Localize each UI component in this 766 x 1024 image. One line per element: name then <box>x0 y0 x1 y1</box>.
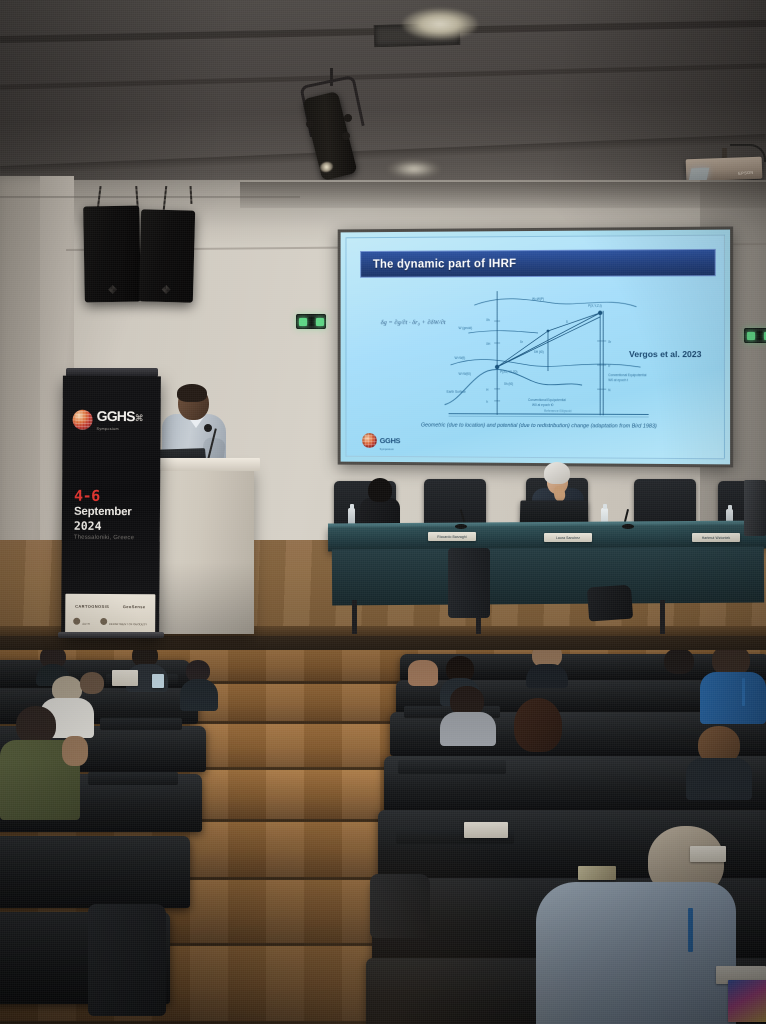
floor-bag <box>587 585 633 622</box>
banner-logo-word: GGHS <box>97 408 135 424</box>
ceiling-shading <box>0 0 766 196</box>
audience-area <box>0 650 766 1024</box>
panelist-head <box>368 478 392 502</box>
svg-text:δ: δ <box>566 320 568 324</box>
banner-base <box>58 632 164 638</box>
slide-logo-text: GGHS <box>380 436 400 445</box>
exit-sign-icon <box>744 328 766 343</box>
svg-text:Earth Surface: Earth Surface <box>447 390 466 394</box>
table-leg <box>352 600 357 634</box>
nameplate: Hartmut Wziontek <box>692 533 740 542</box>
projector-brand-label: EPSON <box>738 170 754 176</box>
gghs-globe-icon <box>73 409 93 429</box>
stage-spotlight-icon <box>300 76 364 184</box>
sponsor-logo-3: AUTH <box>73 618 90 626</box>
exit-sign-figure <box>756 331 763 340</box>
exit-sign-glow <box>299 318 307 326</box>
presenter-hair <box>177 384 207 402</box>
svg-text:P(X0,Y0,Z0): P(X0,Y0,Z0) <box>500 370 517 374</box>
svg-text:δh (t0): δh (t0) <box>504 382 513 386</box>
banner-logo-subtitle: Symposium <box>97 427 144 431</box>
speaker-chain <box>190 186 193 204</box>
svg-text:δH: δH <box>486 342 491 346</box>
microphone-icon <box>204 424 212 432</box>
spotlight-knob <box>344 114 352 122</box>
slide-title: The dynamic part of IHRF <box>373 258 516 271</box>
chair-hair <box>544 462 570 484</box>
svg-text:W0 at epoch t0: W0 at epoch t0 <box>532 403 554 407</box>
svg-text:δH (t0): δH (t0) <box>534 350 544 354</box>
banner-sponsor-strip: CARTOGNOSIS GeoSense AUTH DEPARTMENT OF … <box>65 594 155 635</box>
event-rollup-banner: GGHS⌘ Symposium 4-6 September 2024 Thess… <box>61 376 161 639</box>
sponsor-row-primary: CARTOGNOSIS GeoSense <box>68 598 152 615</box>
loudspeaker-icon <box>139 209 195 302</box>
panel-chair <box>634 479 696 527</box>
ceiling <box>0 0 766 196</box>
slide-gghs-logo: GGHS Symposium <box>362 430 413 450</box>
auditorium-photo: EPSON The <box>0 0 766 1024</box>
panelist-figure <box>360 478 400 528</box>
svg-text:h': h' <box>608 364 611 368</box>
banner-date-range: 4-6 <box>74 487 100 505</box>
banner-year: 2024 <box>74 519 134 533</box>
svg-text:W=W(P): W=W(P) <box>532 297 544 301</box>
sponsor-logo-1: CARTOGNOSIS <box>75 603 109 608</box>
svg-text:W=W(t0): W=W(t0) <box>458 372 471 376</box>
sponsor-seal-icon <box>100 618 107 625</box>
sponsor-seal-icon <box>73 618 80 625</box>
svg-text:δr: δr <box>520 340 523 344</box>
svg-text:P(X,Y,Z,t): P(X,Y,Z,t) <box>588 304 602 308</box>
table-leg <box>660 600 665 634</box>
exit-sign-figure <box>308 317 315 326</box>
speaker-brand-logo <box>108 285 117 294</box>
screen-surface: The dynamic part of IHRF δg = ∂g/∂t · δr… <box>341 230 730 465</box>
svg-text:W0 at epoch t: W0 at epoch t <box>608 378 628 382</box>
speaker-brand-logo <box>162 285 171 294</box>
nameplate: Riccardo Barzaghi <box>428 532 476 541</box>
gghs-globe-icon <box>362 433 377 448</box>
slide-title-bar: The dynamic part of IHRF <box>360 249 716 278</box>
svg-text:Conventional Equipotential: Conventional Equipotential <box>608 373 647 377</box>
exit-sign-glow <box>316 318 324 326</box>
svg-text:Conventional Equipotential: Conventional Equipotential <box>528 398 566 402</box>
slide-caption: Geometric (due to location) and potentia… <box>372 422 708 430</box>
stage-chair <box>448 548 490 618</box>
panel-chair <box>424 479 486 527</box>
panel-table-skirt <box>332 546 764 605</box>
banner-date-block: 4-6 September 2024 Thessaloniki, Greece <box>74 488 135 542</box>
sponsor-logo-4: DEPARTMENT OF GEODESY <box>100 618 147 626</box>
svg-text:W (geoid): W (geoid) <box>458 326 472 330</box>
svg-text:δh: δh <box>486 318 490 322</box>
nameplate: Laura Sanchez <box>544 533 592 542</box>
svg-text:δr: δr <box>608 340 611 344</box>
banner-month: September <box>74 506 134 520</box>
presentation-slide: The dynamic part of IHRF δg = ∂g/∂t · δr… <box>346 235 725 460</box>
slide-citation: Vergos et al. 2023 <box>629 349 701 359</box>
projection-screen: The dynamic part of IHRF δg = ∂g/∂t · δr… <box>338 227 733 468</box>
speaker-chain <box>163 186 167 210</box>
microphone-base <box>455 524 467 529</box>
spotlight-knob <box>342 132 350 140</box>
loudspeaker-icon <box>83 206 141 303</box>
aisle-lighting <box>0 650 766 1024</box>
exit-sign-icon <box>296 314 326 329</box>
svg-text:N: N <box>608 388 611 392</box>
svg-text:h: h <box>486 400 488 404</box>
sponsor-logo-2: GeoSense <box>123 604 146 609</box>
slide-logo-subtitle: Symposium <box>380 448 400 451</box>
banner-logo: GGHS⌘ Symposium <box>73 408 144 431</box>
ceiling-loudspeakers <box>78 186 204 312</box>
svg-text:H: H <box>486 388 489 392</box>
spotlight-knob <box>306 120 314 128</box>
svg-text:W=W(t): W=W(t) <box>455 356 466 360</box>
geodesy-diagram: W=W(P) W (geoid) W=W(t) W=W(t0) Earth Su… <box>441 281 655 422</box>
banner-city: Thessaloniki, Greece <box>74 535 134 542</box>
exit-sign-glow <box>747 332 755 340</box>
sponsor-row-secondary: AUTH DEPARTMENT OF GEODESY <box>68 614 152 631</box>
banner-logo-symbol: ⌘ <box>135 413 144 423</box>
microphone-base <box>622 524 634 529</box>
svg-text:Reference Ellipsoid: Reference Ellipsoid <box>544 409 572 413</box>
slide-formula: δg = ∂g/∂t · δr₀ + ∂δW/∂t <box>378 319 449 343</box>
equipment-case <box>744 480 766 536</box>
